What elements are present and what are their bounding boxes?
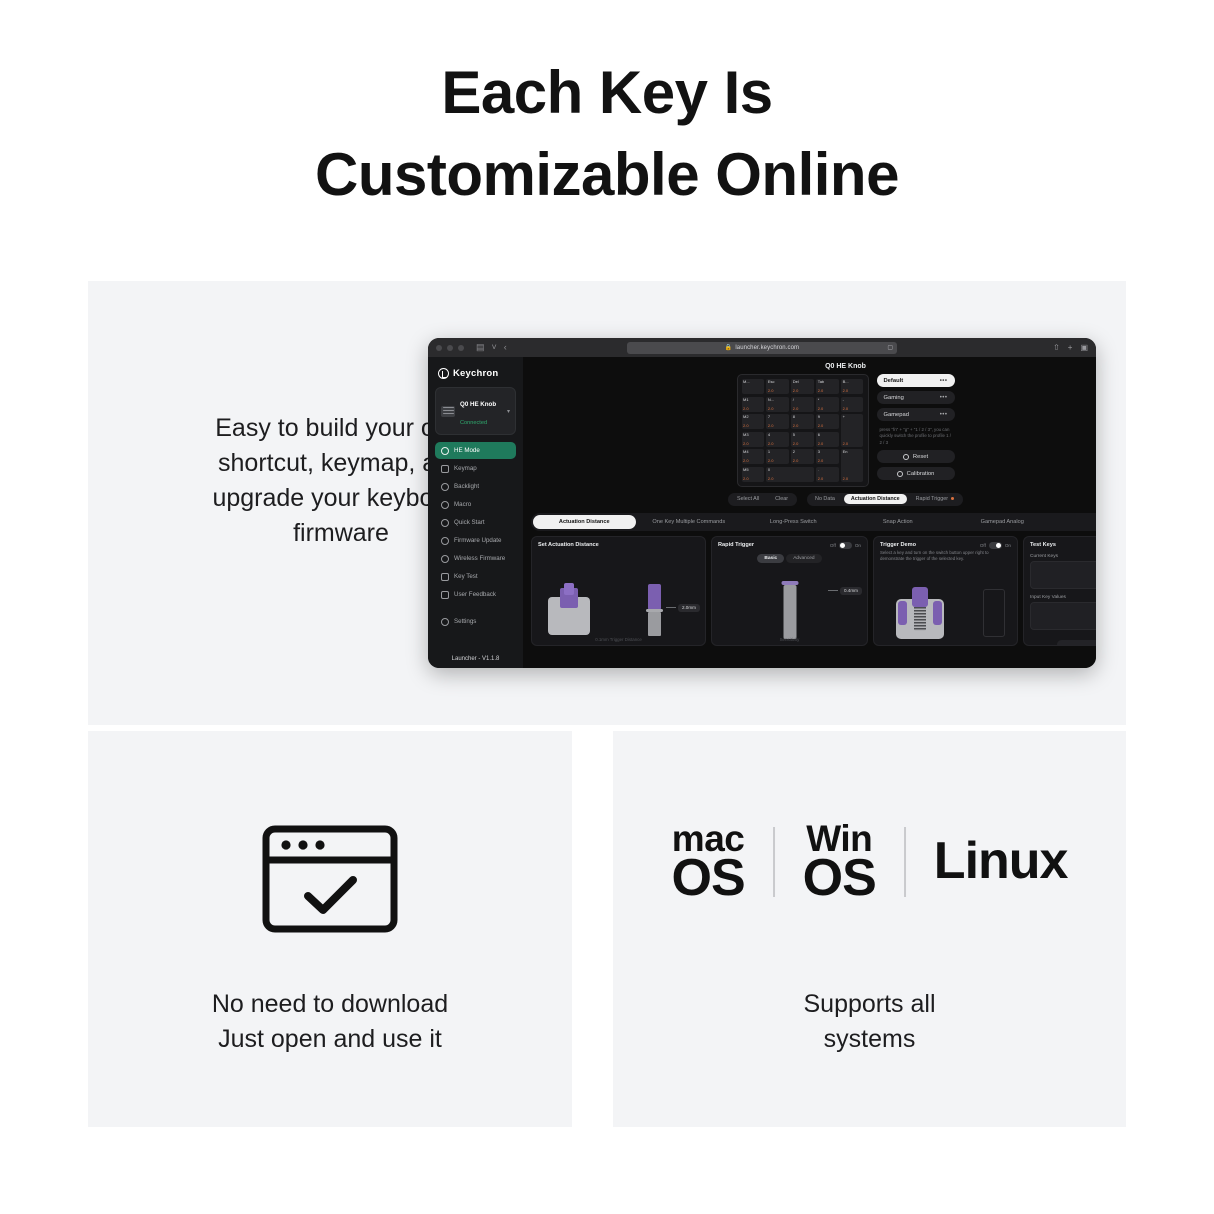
view-mode-rapid-trigger[interactable]: Rapid Trigger [909, 494, 961, 504]
feature-card-supported-systems: mac OS Win OS Linux Supports all systems [613, 731, 1126, 1127]
browser-window: ▤ ˅ ‹ 🔒 launcher.keychron.com ▢ ⇧ + ▣ [428, 338, 1096, 668]
select-all-button[interactable]: Select All [730, 494, 766, 504]
key-cell[interactable]: 82.0 [791, 414, 813, 429]
toggle-off-label: Off [830, 543, 836, 548]
profile-label: Gamepad [884, 412, 909, 418]
key-cell[interactable]: 22.0 [791, 449, 813, 464]
sidebar-item-label: Backlight [454, 483, 479, 490]
reset-label: Reset [913, 454, 928, 460]
key-grid[interactable]: M... Esc2.0 Del2.0 Tab2.0 B...2.0 M12.0 … [742, 379, 864, 482]
actuation-value: 2.0mm [678, 604, 700, 612]
app-window-body: Keychron Q0 HE Knob Connected ▾ HE Mode [428, 357, 1096, 668]
toggle-on-label: On [855, 543, 861, 548]
trigger-demo-meter [983, 589, 1005, 637]
reset-icon [903, 454, 909, 460]
toggle-switch-icon[interactable] [989, 542, 1002, 549]
panel-test-keys: Test Keys Off On Current Keys Input Key … [1023, 536, 1096, 646]
sidebar-item-wireless-firmware[interactable]: Wireless Firmware [435, 550, 516, 567]
key-cell[interactable]: *2.0 [816, 397, 838, 412]
headline-line-1: Each Key Is [441, 59, 772, 126]
device-name: Q0 HE Knob [460, 401, 496, 408]
sidebar-item-label: Macro [454, 501, 471, 508]
sidebar-item-keymap[interactable]: Keymap [435, 460, 516, 477]
sidebar-item-label: User Feedback [454, 591, 496, 598]
sidebar-item-firmware-update[interactable]: Firmware Update [435, 532, 516, 549]
divider [773, 827, 775, 897]
address-bar-url: launcher.keychron.com [735, 345, 799, 351]
panel-rapid-trigger: Rapid Trigger Off On Basic Advanced [711, 536, 868, 646]
caption-line-1: Supports all [803, 990, 935, 1018]
sidebar-item-label: Key Test [454, 573, 478, 580]
minimize-icon[interactable] [447, 345, 453, 351]
sidebar-item-quick-start[interactable]: Quick Start [435, 514, 516, 531]
profile-label: Gaming [884, 395, 904, 401]
rapid-trigger-toggle[interactable]: Off On [830, 542, 861, 549]
he-mode-icon [441, 447, 449, 455]
feature-card-top: Easy to build your own shortcut, keymap,… [88, 281, 1126, 725]
key-cell[interactable]: M32.0 [742, 432, 764, 447]
keyboard-title: Q0 HE Knob [531, 363, 1096, 370]
feature-card-caption: No need to download Just open and use it [88, 987, 572, 1057]
key-cell[interactable]: En2.0 [841, 449, 863, 482]
tab-curve[interactable]: Curve [1056, 515, 1097, 529]
key-cell[interactable]: M... [742, 379, 764, 394]
input-key-values-field[interactable] [1030, 602, 1096, 630]
panel-set-actuation-distance: Set Actuation Distance 2.0mm [531, 536, 706, 646]
key-cell[interactable]: 32.0 [816, 449, 838, 464]
mode-basic[interactable]: Basic [757, 554, 784, 563]
trigger-demo-toggle[interactable]: Off On [980, 542, 1011, 549]
address-bar[interactable]: 🔒 launcher.keychron.com ▢ [627, 342, 897, 354]
app-sidebar: Keychron Q0 HE Knob Connected ▾ HE Mode [428, 357, 523, 668]
app-main: Q0 HE Knob M... Esc2.0 Del2.0 Tab2.0 B..… [523, 357, 1096, 668]
profile-gaming[interactable]: Gaming ••• [877, 391, 955, 404]
key-cell[interactable]: -2.0 [841, 397, 863, 412]
sidebar-item-key-test[interactable]: Key Test [435, 568, 516, 585]
page-root: Each Key Is Customizable Online Easy to … [0, 0, 1214, 1214]
panel-description: Select a key and turn on the switch butt… [880, 550, 1000, 563]
key-cell[interactable]: M52.0 [742, 467, 764, 482]
caption-line-2: systems [824, 1025, 916, 1053]
key-cell[interactable]: 72.0 [766, 414, 788, 429]
sidebar-item-label: HE Mode [454, 447, 480, 454]
sidebar-item-settings[interactable]: Settings [435, 613, 516, 630]
overflow-menu-icon[interactable]: ••• [940, 378, 948, 384]
panel-footer-label: Sensitivity [712, 637, 867, 642]
caption-line-2: Just open and use it [218, 1025, 442, 1053]
divider [904, 827, 906, 897]
selection-controls: Select All Clear [728, 493, 796, 506]
sidebar-item-label: Wireless Firmware [454, 555, 505, 562]
sidebar-item-he-mode[interactable]: HE Mode [435, 442, 516, 459]
key-cell[interactable]: M22.0 [742, 414, 764, 429]
key-cell[interactable]: 52.0 [791, 432, 813, 447]
key-cell[interactable]: Del2.0 [791, 379, 813, 394]
keyboard-thumbnail-icon [441, 406, 455, 417]
plus-icon[interactable]: + [1068, 343, 1073, 352]
page-actions-icon[interactable]: ▢ [887, 344, 893, 351]
profile-default[interactable]: Default ••• [877, 374, 955, 387]
profile-label: Default [884, 378, 904, 384]
view-mode-actuation-distance[interactable]: Actuation Distance [844, 494, 907, 504]
keychron-logo-icon [438, 368, 449, 379]
sidebar-item-label: Settings [454, 618, 476, 625]
switch-cutaway-icon [896, 587, 944, 639]
rapid-trigger-slider[interactable] [781, 581, 798, 639]
rapid-trigger-value: 0.4mm [840, 587, 862, 595]
current-keys-field[interactable] [1030, 561, 1096, 589]
profile-hint-text: press "fn" + "g" + "1 / 2 / 3", you can … [877, 425, 955, 446]
panel-trigger-demo: Trigger Demo Off On Select a key and tur… [873, 536, 1018, 646]
wireless-firmware-icon [441, 555, 449, 563]
key-test-icon [441, 573, 449, 581]
actuation-value-tag: 2.0mm [666, 604, 700, 612]
winos-logo: Win OS [803, 823, 876, 901]
chevron-down-icon[interactable]: ▾ [507, 408, 510, 415]
key-cell[interactable]: B...2.0 [841, 379, 863, 394]
input-key-values-label: Input Key Values [1030, 595, 1096, 600]
sidebar-item-label: Keymap [454, 465, 477, 472]
lock-icon: 🔒 [725, 344, 732, 351]
tab-snap-action[interactable]: Snap Action [847, 515, 950, 529]
toggle-switch-icon[interactable] [839, 542, 852, 549]
profile-gamepad[interactable]: Gamepad ••• [877, 408, 955, 421]
tab-one-key-multiple-commands[interactable]: One Key Multiple Commands [638, 515, 741, 529]
macos-logo-bottom: OS [672, 856, 745, 902]
rapid-trigger-modes: Basic Advanced [718, 554, 861, 563]
device-status: Connected [460, 420, 487, 426]
tab-gamepad-analog[interactable]: Gamepad Analog [951, 515, 1054, 529]
feature-card-caption: Supports all systems [613, 987, 1126, 1057]
sidebar-item-label: Firmware Update [454, 537, 501, 544]
key-cell[interactable]: Esc2.0 [766, 379, 788, 394]
browser-check-icon [260, 819, 400, 944]
launcher-version: Launcher - V1.1.8 [428, 656, 523, 662]
maximize-icon[interactable] [458, 345, 464, 351]
device-selector[interactable]: Q0 HE Knob Connected ▾ [435, 387, 516, 435]
quick-start-icon [441, 519, 449, 527]
key-cell[interactable]: 62.0 [816, 432, 838, 447]
calibration-button[interactable]: Calibration [877, 467, 955, 480]
settings-gear-icon [441, 618, 449, 626]
share-icon[interactable]: ⇧ [1053, 343, 1060, 352]
panel-title: Set Actuation Distance [538, 542, 699, 548]
key-cell[interactable]: 12.0 [766, 449, 788, 464]
grid-controls: Select All Clear No Data Actuation Dista… [531, 493, 1096, 506]
sidebar-item-user-feedback[interactable]: User Feedback [435, 586, 516, 603]
mode-advanced[interactable]: Advanced [786, 554, 821, 563]
profile-list: Default ••• Gaming ••• Gamepad ••• [877, 374, 955, 487]
macro-icon [441, 501, 449, 509]
brand-logo: Keychron [435, 365, 516, 387]
key-cell[interactable]: 02.0 [766, 467, 813, 482]
actuation-slider[interactable] [646, 584, 663, 636]
key-cell[interactable]: +2.0 [841, 414, 863, 447]
key-cell[interactable]: 42.0 [766, 432, 788, 447]
rapid-trigger-value-tag: 0.4mm [828, 587, 862, 595]
calibration-icon [897, 471, 903, 477]
sidebar-item-macro[interactable]: Macro [435, 496, 516, 513]
linux-logo: Linux [934, 839, 1068, 885]
overflow-menu-icon[interactable]: ••• [940, 395, 948, 401]
current-keys-label: Current Keys [1030, 554, 1096, 559]
sidebar-item-backlight[interactable]: Backlight [435, 478, 516, 495]
browser-titlebar: ▤ ˅ ‹ 🔒 launcher.keychron.com ▢ ⇧ + ▣ [428, 338, 1096, 357]
clear-button[interactable]: Clear [768, 494, 795, 504]
toggle-on-label: On [1005, 543, 1011, 548]
panel-title: Test Keys [1030, 542, 1096, 548]
back-chevron-icon[interactable]: ‹ [504, 343, 507, 352]
reset-button[interactable]: Reset [877, 450, 955, 463]
feature-card-no-download: No need to download Just open and use it [88, 731, 572, 1127]
key-cell[interactable]: Tab2.0 [816, 379, 838, 394]
close-icon[interactable] [436, 345, 442, 351]
tab-long-press-switch[interactable]: Long-Press Switch [742, 515, 845, 529]
winos-logo-bottom: OS [803, 856, 876, 902]
os-logo-row: mac OS Win OS Linux [672, 823, 1068, 901]
tabs-icon[interactable]: ▣ [1080, 343, 1088, 352]
status-dot-icon [951, 497, 954, 500]
key-cell[interactable]: 92.0 [816, 414, 838, 429]
keyboard-preview: M... Esc2.0 Del2.0 Tab2.0 B...2.0 M12.0 … [737, 374, 869, 487]
overflow-menu-icon[interactable]: ••• [940, 412, 948, 418]
panel-scroll-handle[interactable] [1057, 640, 1097, 646]
keymap-icon [441, 465, 449, 473]
macos-logo: mac OS [672, 823, 745, 901]
toggle-off-label: Off [980, 543, 986, 548]
backlight-icon [441, 483, 449, 491]
caption-line-1: No need to download [212, 990, 448, 1018]
calibration-label: Calibration [907, 471, 935, 477]
key-cell[interactable]: M12.0 [742, 397, 764, 412]
key-cell[interactable]: /2.0 [791, 397, 813, 412]
panel-footer-label: 0.1mm Trigger Distance [532, 637, 705, 642]
page-title: Each Key Is Customizable Online [0, 52, 1214, 216]
feature-tabs: Actuation Distance One Key Multiple Comm… [531, 513, 1096, 531]
view-mode-no-data[interactable]: No Data [808, 494, 842, 504]
window-traffic-lights[interactable] [436, 345, 464, 351]
switch-illustration-icon [548, 597, 590, 635]
tab-actuation-distance[interactable]: Actuation Distance [533, 515, 636, 529]
view-mode-switch: No Data Actuation Distance Rapid Trigger [807, 493, 963, 506]
key-cell[interactable]: N...2.0 [766, 397, 788, 412]
sidebar-item-label: Quick Start [454, 519, 485, 526]
user-feedback-icon [441, 591, 449, 599]
key-cell[interactable]: M42.0 [742, 449, 764, 464]
brand-name: Keychron [453, 368, 498, 379]
settings-panels: Set Actuation Distance 2.0mm [531, 536, 1096, 646]
firmware-update-icon [441, 537, 449, 545]
key-cell[interactable]: .2.0 [816, 467, 838, 482]
sidebar-toggle-icon[interactable]: ▤ [476, 343, 485, 352]
chevron-down-icon[interactable]: ˅ [492, 343, 497, 352]
headline-line-2: Customizable Online [0, 134, 1214, 216]
